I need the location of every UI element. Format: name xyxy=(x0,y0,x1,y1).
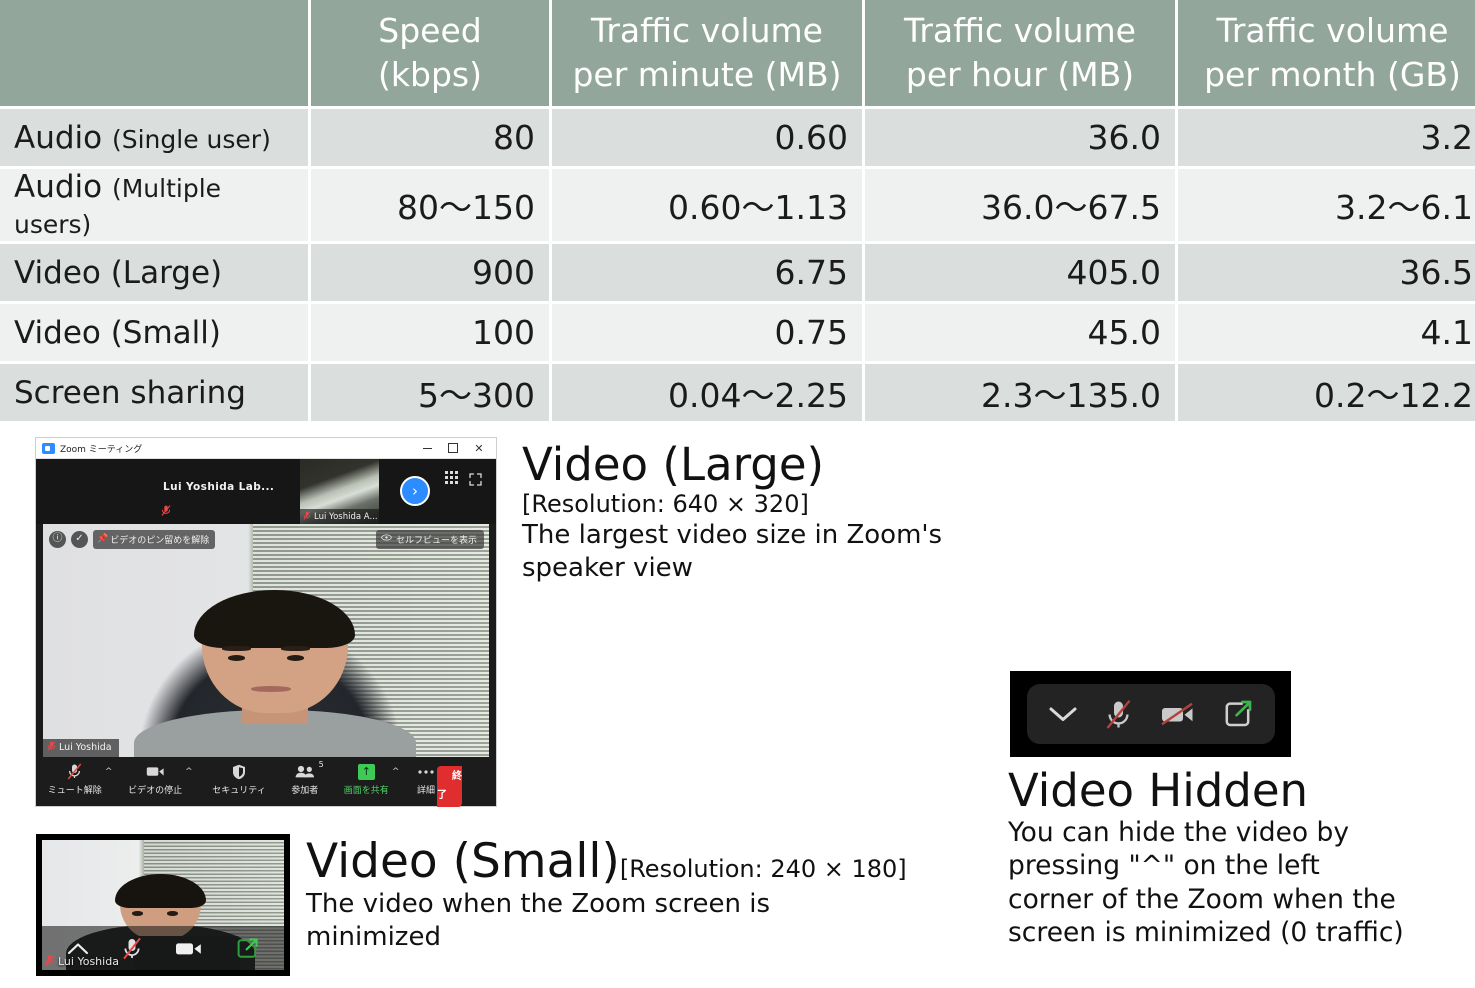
row-label-main: Video (Small) xyxy=(14,315,221,351)
toolbar-participants-label: 参加者 xyxy=(291,783,318,796)
cell-per-month: 3.2〜6.1 xyxy=(1178,169,1475,241)
video-options-caret-icon[interactable]: ^ xyxy=(185,767,193,777)
share-options-caret-icon[interactable]: ^ xyxy=(392,767,400,777)
cell-per-hour: 45.0 xyxy=(865,304,1175,361)
toolbar-stop-video-button[interactable]: ビデオの停止 xyxy=(126,762,184,796)
row-label-main: Audio xyxy=(14,169,102,205)
table-header-speed: Speed (kbps) xyxy=(311,0,549,106)
next-page-button[interactable]: › xyxy=(400,476,430,506)
end-meeting-button[interactable]: 終了 xyxy=(437,766,462,807)
zoom-toolbar: ミュート解除 ^ ビデオの停止 ^ セキュリティ xyxy=(36,758,496,806)
participant-tile-2-name: Lui Yoshida A... xyxy=(314,512,378,522)
zoom-logo-icon xyxy=(42,443,55,454)
cell-per-hour: 36.0 xyxy=(865,109,1175,166)
table-header-per-month: Traffic volume per month (GB) xyxy=(1178,0,1475,106)
participant-tile-1-name: Lui Yoshida Lab... xyxy=(163,481,274,493)
header-line2: (kbps) xyxy=(378,55,482,94)
cell-per-minute: 0.75 xyxy=(552,304,862,361)
caption-video-large-body-line1: The largest video size in Zoom's xyxy=(522,519,1082,552)
minimized-name-badge: Lui Yoshida xyxy=(44,954,119,969)
stage-top-left-controls: ⓘ ✓ 📌 ビデオのピン留めを解除 xyxy=(49,530,215,549)
chevron-right-icon: › xyxy=(412,484,418,499)
table-row: Audio (Single user) 80 0.60 36.0 3.2 xyxy=(0,109,1475,166)
caption-video-hidden-body-line1: You can hide the video by xyxy=(1008,816,1475,850)
video-hidden-toolbar xyxy=(1027,684,1275,744)
caption-video-large-body-line2: speaker view xyxy=(522,552,1082,585)
cell-speed: 5〜300 xyxy=(311,364,549,421)
share-screen-icon: ↑ xyxy=(358,762,375,781)
zoom-meeting-window: Zoom ミーティング ✕ Lui Yoshida Lab... Lui Yos… xyxy=(36,438,496,806)
more-icon xyxy=(417,762,435,781)
window-controls: ✕ xyxy=(414,439,492,458)
mic-muted-icon xyxy=(47,741,56,754)
show-selfview-label: セルフビューを表示 xyxy=(396,533,477,546)
row-label: Video (Small) xyxy=(0,304,308,361)
cell-per-minute: 0.60〜1.13 xyxy=(552,169,862,241)
header-line1: Traffic volume xyxy=(591,11,823,50)
participants-icon: 5 xyxy=(295,762,315,781)
caption-video-small-body-line1: The video when the Zoom screen is xyxy=(306,888,986,921)
maximize-button[interactable] xyxy=(440,439,466,458)
toolbar-security-button[interactable]: セキュリティ xyxy=(210,762,267,796)
table-header-corner xyxy=(0,0,308,106)
video-hidden-toolbar-frame xyxy=(1010,671,1291,757)
cell-per-hour: 405.0 xyxy=(865,244,1175,301)
row-label-sub: (Single user) xyxy=(112,125,271,154)
caption-video-large-title: Video (Large) xyxy=(522,440,1082,490)
minimized-video-inner: Lui Yoshida xyxy=(42,840,284,970)
caption-video-hidden-body-line4: screen is minimized (0 traffic) xyxy=(1008,916,1475,950)
cell-per-hour: 36.0〜67.5 xyxy=(865,169,1175,241)
header-line2: per hour (MB) xyxy=(906,55,1134,94)
minimized-zoom-video[interactable]: Lui Yoshida xyxy=(36,834,290,976)
cell-per-month: 36.5 xyxy=(1178,244,1475,301)
toolbar-more-button[interactable]: 詳細 xyxy=(415,762,437,796)
table-header-row: Speed (kbps) Traffic volume per minute (… xyxy=(0,0,1475,106)
active-speaker-video[interactable]: ⓘ ✓ 📌 ビデオのピン留めを解除 セルフビューを表示 Lui Yoshida xyxy=(43,524,489,757)
table-row: Screen sharing 5〜300 0.04〜2.25 2.3〜135.0… xyxy=(0,364,1475,421)
participant-tile-2[interactable]: Lui Yoshida A... xyxy=(300,459,379,524)
cell-per-hour: 2.3〜135.0 xyxy=(865,364,1175,421)
zoom-window-titlebar: Zoom ミーティング ✕ xyxy=(36,438,496,459)
mic-muted-icon[interactable] xyxy=(1105,699,1132,730)
header-line1: Traffic volume xyxy=(1217,11,1449,50)
mic-muted-icon xyxy=(303,511,311,523)
caption-video-large: Video (Large) [Resolution: 640 × 320] Th… xyxy=(522,440,1082,585)
row-label: Screen sharing xyxy=(0,364,308,421)
row-label-main: Screen sharing xyxy=(14,375,246,411)
traffic-table: Speed (kbps) Traffic volume per minute (… xyxy=(0,0,1475,424)
toolbar-mute-button[interactable]: ミュート解除 xyxy=(46,762,104,796)
caption-video-hidden-body-line3: corner of the Zoom when the xyxy=(1008,883,1475,917)
cell-per-minute: 0.04〜2.25 xyxy=(552,364,862,421)
caption-video-small-body-line2: minimized xyxy=(306,921,986,954)
caption-video-hidden: Video Hidden You can hide the video by p… xyxy=(1008,766,1475,950)
cell-per-minute: 6.75 xyxy=(552,244,862,301)
header-line2: per minute (MB) xyxy=(572,55,841,94)
mute-options-caret-icon[interactable]: ^ xyxy=(105,767,113,777)
row-label-main: Video (Large) xyxy=(14,255,222,291)
header-line2: per month (GB) xyxy=(1204,55,1461,94)
camera-icon[interactable] xyxy=(175,940,203,957)
mic-muted-icon xyxy=(161,505,171,518)
info-icon[interactable]: ⓘ xyxy=(49,531,66,548)
row-label-main: Audio xyxy=(14,120,102,156)
table-row: Video (Small) 100 0.75 45.0 4.1 xyxy=(0,304,1475,361)
camera-muted-icon[interactable] xyxy=(1160,702,1196,726)
mic-muted-icon xyxy=(44,954,55,969)
show-selfview-button[interactable]: セルフビューを表示 xyxy=(376,530,484,549)
close-icon[interactable]: ✕ xyxy=(466,439,492,458)
toolbar-share-screen-label: 画面を共有 xyxy=(344,783,389,796)
speaker-name-label: Lui Yoshida xyxy=(59,742,112,753)
cell-per-month: 3.2 xyxy=(1178,109,1475,166)
minimized-name-label: Lui Yoshida xyxy=(58,955,119,968)
caption-video-small-title: Video (Small) xyxy=(306,836,620,888)
toolbar-security-label: セキュリティ xyxy=(212,783,265,796)
table-row: Video (Large) 900 6.75 405.0 36.5 xyxy=(0,244,1475,301)
participants-count-badge: 5 xyxy=(319,760,324,769)
table-header-per-minute: Traffic volume per minute (MB) xyxy=(552,0,862,106)
mic-muted-icon[interactable] xyxy=(122,937,142,960)
toolbar-more-label: 詳細 xyxy=(417,783,435,796)
speaker-name-badge: Lui Yoshida xyxy=(43,739,119,758)
row-label: Video (Large) xyxy=(0,244,308,301)
mic-muted-icon xyxy=(67,762,82,781)
toolbar-mute-label: ミュート解除 xyxy=(48,783,102,796)
row-label: Audio (Single user) xyxy=(0,109,308,166)
camera-icon xyxy=(146,762,165,781)
caption-video-small: Video (Small) [Resolution: 240 × 180] Th… xyxy=(306,836,986,954)
check-icon[interactable]: ✓ xyxy=(71,531,88,548)
chevron-up-icon[interactable] xyxy=(67,942,89,955)
gallery-view-icon[interactable] xyxy=(445,471,458,484)
cell-speed: 100 xyxy=(311,304,549,361)
toolbar-share-screen-button[interactable]: ↑ 画面を共有 xyxy=(342,762,391,796)
cell-speed: 80〜150 xyxy=(311,169,549,241)
gallery-strip: Lui Yoshida Lab... Lui Yoshida A... › xyxy=(36,459,496,524)
toolbar-stop-video-label: ビデオの停止 xyxy=(128,783,182,796)
header-line1: Speed xyxy=(378,11,481,50)
caption-video-hidden-body-line2: pressing "^" on the left xyxy=(1008,849,1475,883)
minimize-button[interactable] xyxy=(414,439,440,458)
cell-speed: 80 xyxy=(311,109,549,166)
table-row: Audio (Multiple users) 80〜150 0.60〜1.13 … xyxy=(0,169,1475,241)
table-header-per-hour: Traffic volume per hour (MB) xyxy=(865,0,1175,106)
row-label: Audio (Multiple users) xyxy=(0,169,308,241)
fullscreen-icon[interactable] xyxy=(469,471,482,484)
zoom-window-title: Zoom ミーティング xyxy=(60,442,414,455)
share-arrow-icon[interactable] xyxy=(1223,699,1253,729)
shield-icon xyxy=(232,762,246,781)
toolbar-participants-button[interactable]: 5 参加者 xyxy=(289,762,320,796)
chevron-down-icon[interactable] xyxy=(1048,705,1078,723)
cell-per-month: 0.2〜12.2 xyxy=(1178,364,1475,421)
pin-icon: 📌 xyxy=(97,534,108,544)
share-arrow-icon[interactable] xyxy=(236,937,259,960)
unpin-video-label: ビデオのピン留めを解除 xyxy=(110,533,209,546)
participant-tile-2-bar: Lui Yoshida A... xyxy=(300,509,379,524)
cell-per-minute: 0.60 xyxy=(552,109,862,166)
cell-per-month: 4.1 xyxy=(1178,304,1475,361)
unpin-video-button[interactable]: 📌 ビデオのピン留めを解除 xyxy=(93,530,215,549)
traffic-table-container: Speed (kbps) Traffic volume per minute (… xyxy=(0,0,1475,412)
header-line1: Traffic volume xyxy=(904,11,1136,50)
person-figure xyxy=(177,575,373,757)
eye-icon xyxy=(381,534,392,544)
caption-video-large-resolution: [Resolution: 640 × 320] xyxy=(522,490,1082,519)
caption-video-small-resolution: [Resolution: 240 × 180] xyxy=(620,855,907,884)
cell-speed: 900 xyxy=(311,244,549,301)
caption-video-hidden-title: Video Hidden xyxy=(1008,766,1475,816)
